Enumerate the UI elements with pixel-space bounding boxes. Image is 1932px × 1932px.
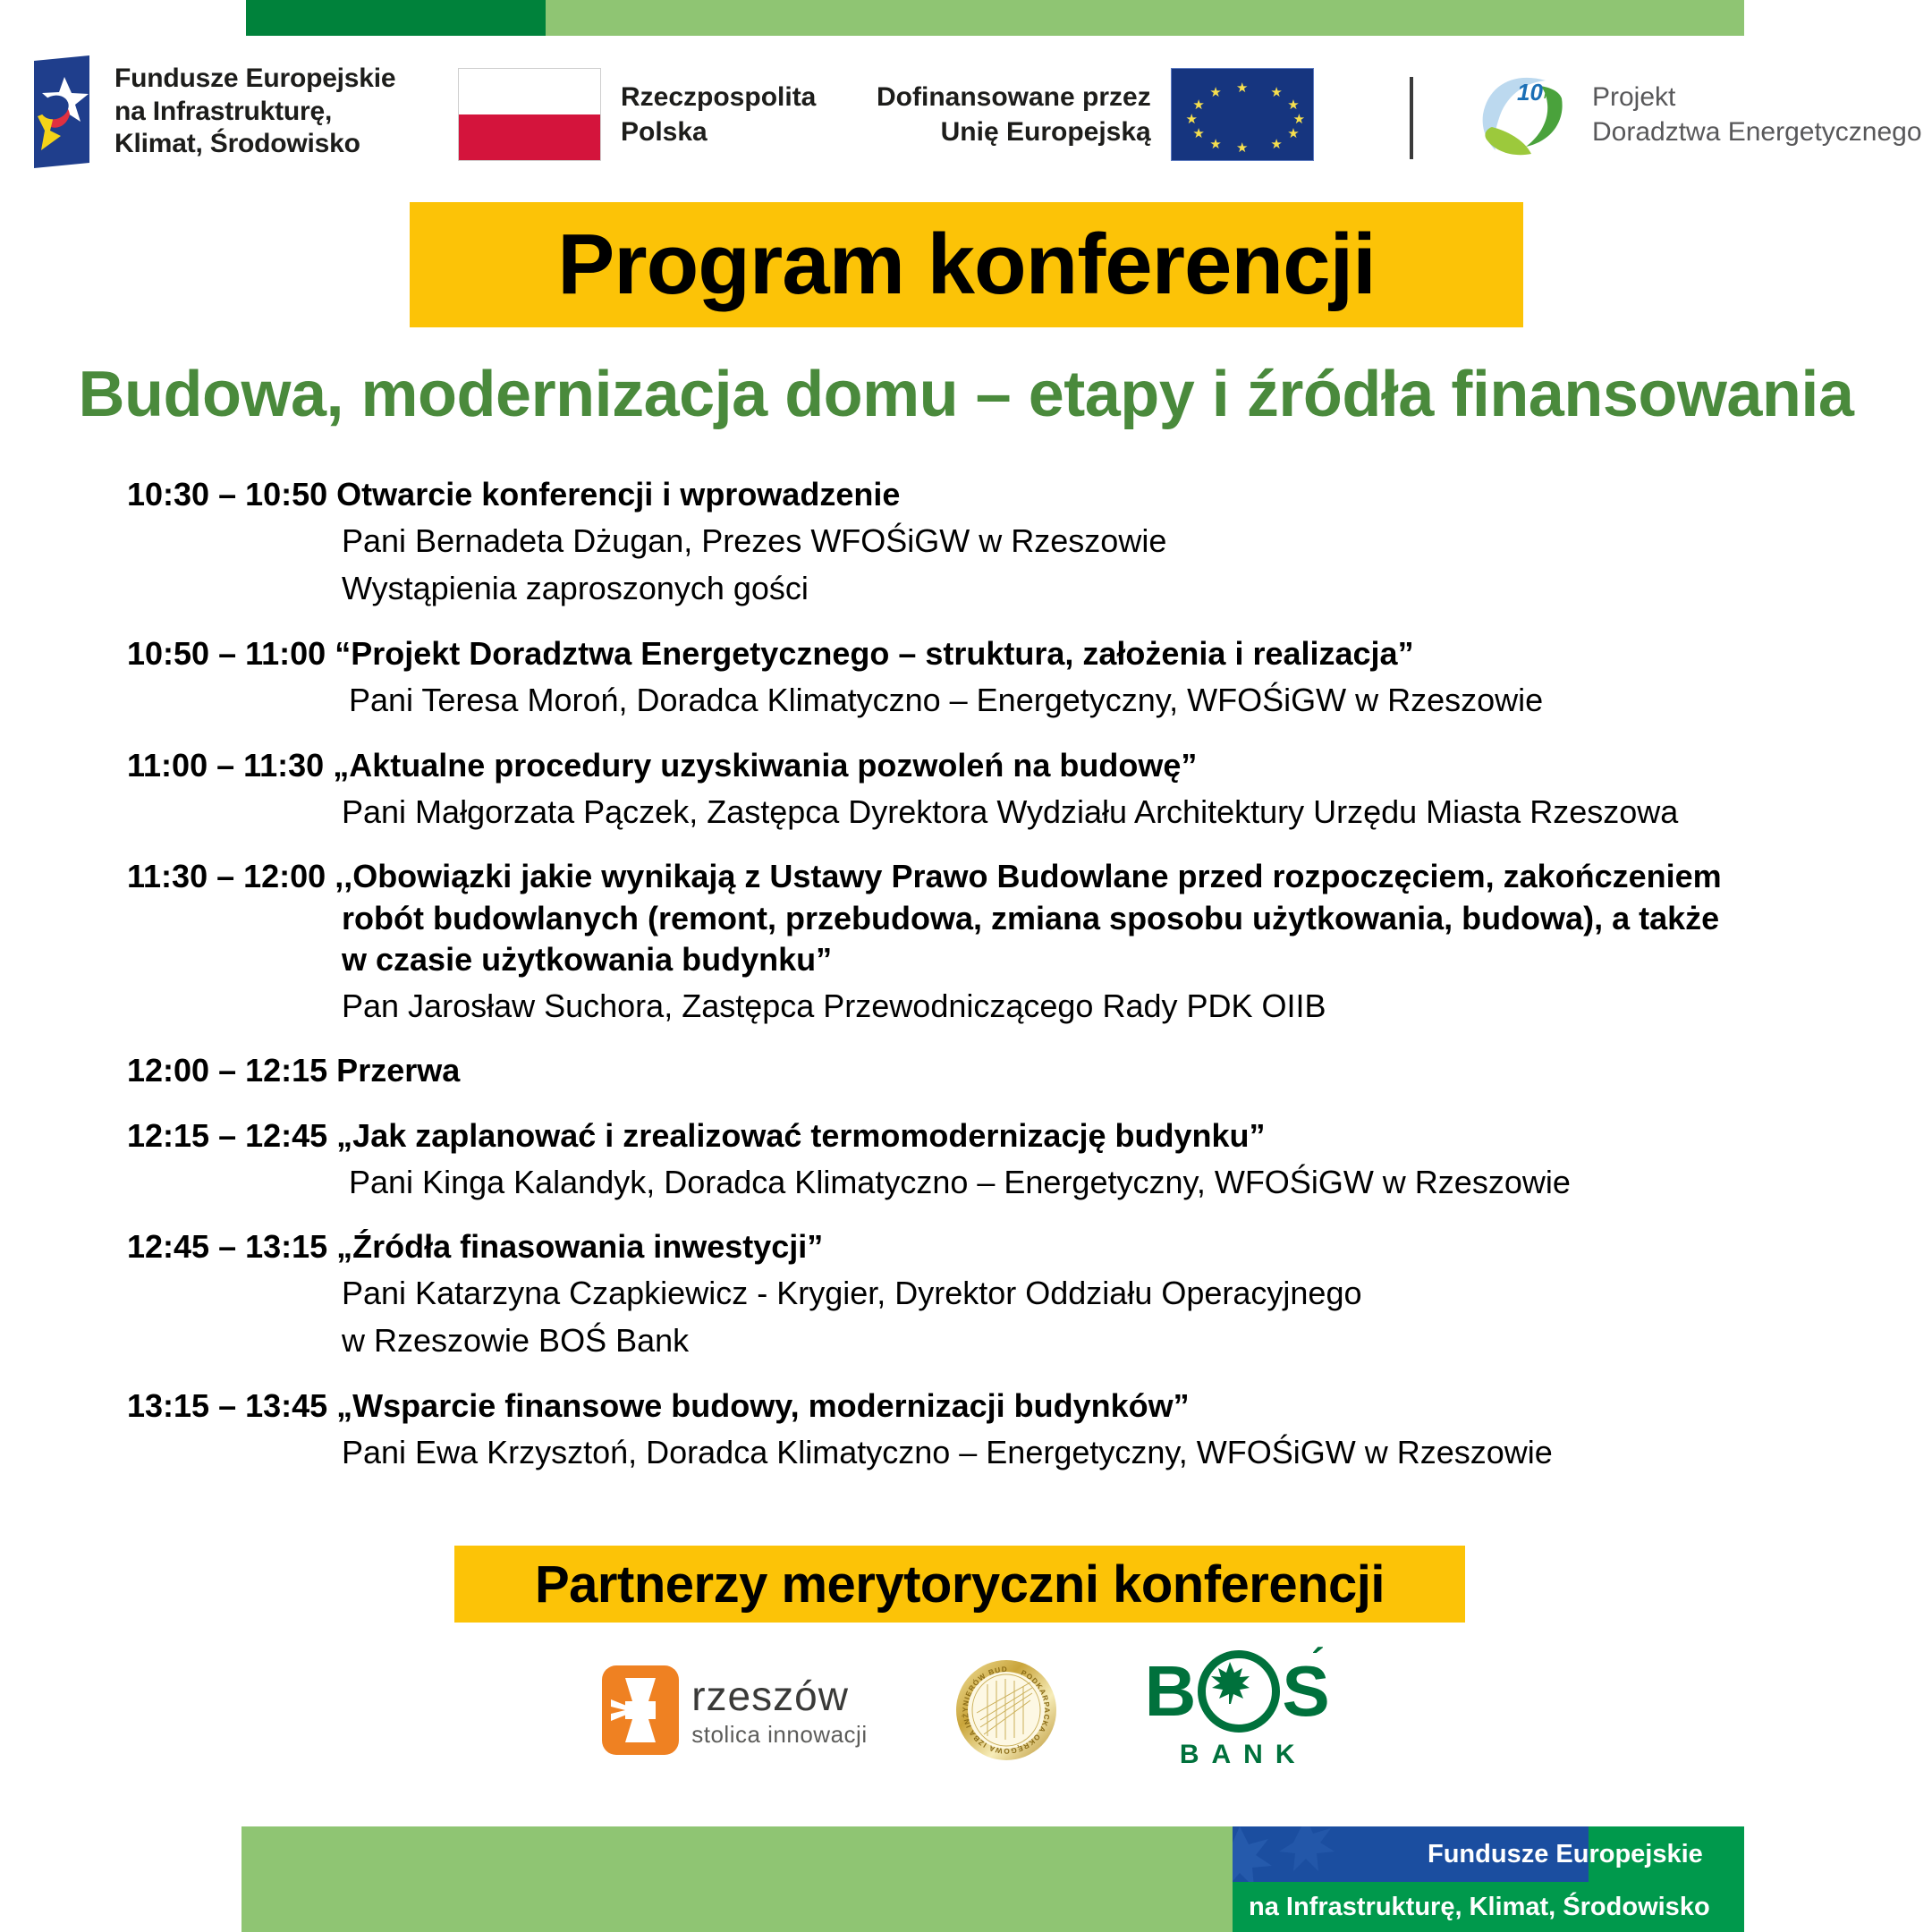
program-item: 12:00 – 12:15 Przerwa	[127, 1050, 1826, 1091]
program-item: 13:15 – 13:45 „Wsparcie finansowe budowy…	[127, 1385, 1826, 1474]
logo-unia-europejska: Dofinansowane przez Unię Europejską ★ ★ …	[877, 68, 1314, 161]
program-item-speaker: w Rzeszowie BOŚ Bank	[127, 1320, 1826, 1362]
program-item-time-title: 13:15 – 13:45 „Wsparcie finansowe budowy…	[127, 1385, 1826, 1427]
projekt-doradztwa-label: Projekt Doradztwa Energetycznego	[1592, 80, 1922, 149]
bos-leaf-icon	[1198, 1650, 1280, 1733]
program-item: 10:30 – 10:50 Otwarcie konferencji i wpr…	[127, 474, 1826, 610]
pde-leaf-icon: 10 lat	[1476, 68, 1576, 161]
page-subtitle: Budowa, modernizacja domu – etapy i źród…	[0, 358, 1932, 431]
bos-accent: ´	[1311, 1645, 1325, 1681]
partners-title: Partnerzy merytoryczni konferencji	[535, 1555, 1385, 1614]
partner-logos-row: rzeszów stolica innowacji	[0, 1650, 1932, 1770]
logo-rzeszow: rzeszów stolica innowacji	[602, 1665, 867, 1755]
rzeszow-wordmark: rzeszów stolica innowacji	[691, 1675, 867, 1746]
program-item-title-continuation: robót budowlanych (remont, przebudowa, z…	[127, 898, 1826, 980]
svg-text:10: 10	[1517, 79, 1543, 106]
program-item-speaker: Pani Ewa Krzysztoń, Doradca Klimatyczno …	[127, 1432, 1826, 1474]
program-item-time-title: 12:45 – 13:15 „Źródła finasowania inwest…	[127, 1226, 1826, 1267]
logo-fundusze-europejskie: Fundusze Europejskie na Infrastrukturę, …	[25, 54, 395, 170]
footer-line-2: na Infrastrukturę, Klimat, Środowisko	[1249, 1893, 1710, 1922]
top-bar-light-green	[546, 0, 1744, 36]
program-item-title-continuation-text: robót budowlanych (remont, przebudowa, z…	[127, 898, 1826, 980]
program-item: 11:30 – 12:00 ,,Obowiązki jakie wynikają…	[127, 856, 1826, 1027]
bos-bank-word: BANK	[1167, 1740, 1308, 1770]
program-item: 10:50 – 11:00 “Projekt Doradztwa Energet…	[127, 633, 1826, 722]
program-item-time-title: 11:00 – 11:30 „Aktualne procedury uzyski…	[127, 745, 1826, 786]
header-divider	[1410, 77, 1413, 159]
conference-program-list: 10:30 – 10:50 Otwarcie konferencji i wpr…	[127, 474, 1826, 1497]
program-item-time-title: 12:15 – 12:45 „Jak zaplanować i zrealizo…	[127, 1115, 1826, 1157]
program-item-time-title: 12:00 – 12:15 Przerwa	[127, 1050, 1826, 1091]
rzeczpospolita-polska-label: Rzeczpospolita Polska	[621, 80, 816, 149]
rzeszow-mark-icon	[602, 1665, 679, 1755]
program-item: 11:00 – 11:30 „Aktualne procedury uzyski…	[127, 745, 1826, 834]
program-item: 12:45 – 13:15 „Źródła finasowania inwest…	[127, 1226, 1826, 1362]
rzeszow-tagline: stolica innowacji	[691, 1723, 867, 1746]
poland-flag-icon	[458, 68, 601, 161]
program-item-speaker: Pani Teresa Moroń, Doradca Klimatyczno –…	[127, 680, 1826, 722]
program-item: 12:15 – 12:45 „Jak zaplanować i zrealizo…	[127, 1115, 1826, 1204]
footer-star-pattern-icon	[1233, 1826, 1420, 1882]
partners-banner: Partnerzy merytoryczni konferencji	[454, 1546, 1465, 1623]
program-item-speaker: Pan Jarosław Suchora, Zastępca Przewodni…	[127, 986, 1826, 1028]
logo-bos-bank: B S ´ BANK	[1145, 1650, 1330, 1770]
bos-letter-b: B	[1145, 1659, 1197, 1724]
logo-oiib-seal: PODKARPACKA OKRĘGOWA IZBA INŻYNIERÓW BUD…	[953, 1657, 1059, 1763]
program-item-speaker: Pani Małgorzata Pączek, Zastępca Dyrekto…	[127, 792, 1826, 834]
page-title: Program konferencji	[557, 216, 1376, 314]
top-bar-dark-green	[246, 0, 546, 36]
program-item-time-title: 10:50 – 11:00 “Projekt Doradztwa Energet…	[127, 633, 1826, 674]
program-item-speaker: Wystąpienia zaproszonych gości	[127, 568, 1826, 610]
svg-text:lat: lat	[1544, 89, 1557, 101]
header-logo-strip: Fundusze Europejskie na Infrastrukturę, …	[0, 36, 1932, 183]
rzeszow-word: rzeszów	[691, 1675, 867, 1716]
eu-flag-icon: ★ ★ ★ ★ ★ ★ ★ ★ ★ ★ ★ ★	[1171, 68, 1314, 161]
dofinansowane-przez-ue-label: Dofinansowane przez Unię Europejską	[877, 80, 1151, 149]
program-item-speaker: Pani Bernadeta Dżugan, Prezes WFOŚiGW w …	[127, 521, 1826, 563]
program-item-time-title: 11:30 – 12:00 ,,Obowiązki jakie wynikają…	[127, 856, 1826, 897]
footer-line-1: Fundusze Europejskie	[1428, 1840, 1703, 1869]
fundusze-europejskie-flag-icon	[25, 54, 98, 170]
logo-rzeczpospolita-polska: Rzeczpospolita Polska	[458, 68, 816, 161]
title-banner: Program konferencji	[410, 202, 1523, 327]
program-item-speaker: Pani Katarzyna Czapkiewicz - Krygier, Dy…	[127, 1273, 1826, 1315]
fundusze-europejskie-label: Fundusze Europejskie na Infrastrukturę, …	[114, 63, 395, 161]
program-item-speaker: Pani Kinga Kalandyk, Doradca Klimatyczno…	[127, 1162, 1826, 1204]
footer-bar-light-green	[241, 1826, 1233, 1932]
logo-projekt-doradztwa-energetycznego: 10 lat Projekt Doradztwa Energetycznego	[1476, 68, 1922, 161]
program-item-time-title: 10:30 – 10:50 Otwarcie konferencji i wpr…	[127, 474, 1826, 515]
bos-letter-s: S ´	[1282, 1659, 1329, 1724]
